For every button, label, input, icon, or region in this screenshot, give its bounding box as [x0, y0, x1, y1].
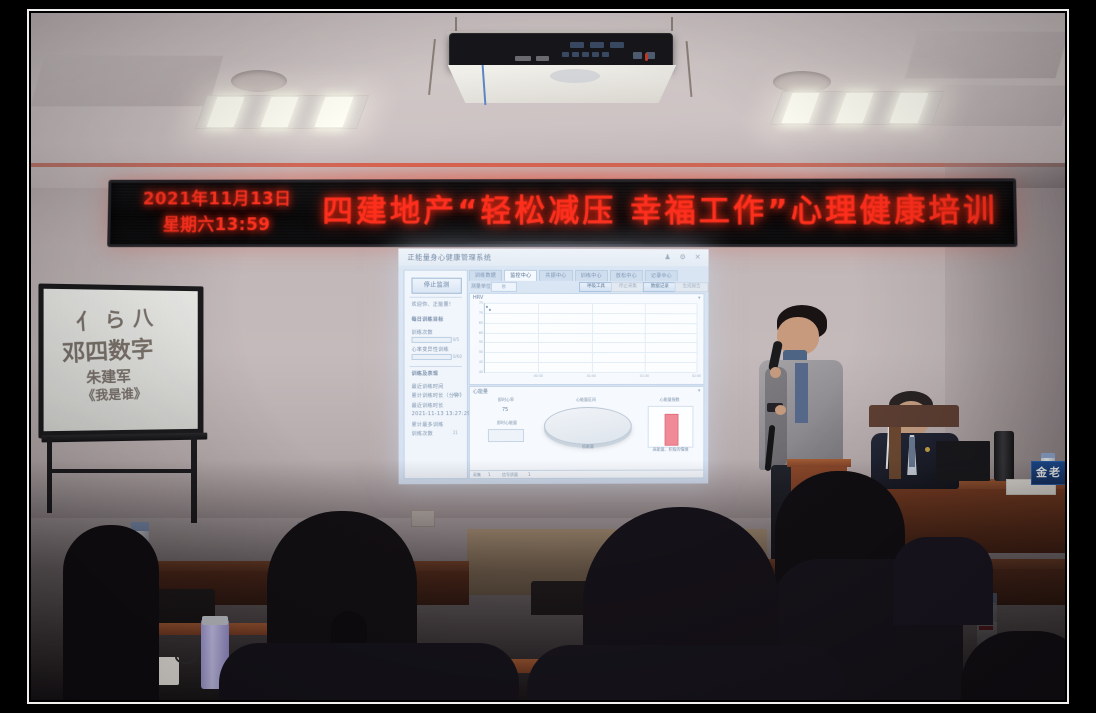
instant-hr-label: 即时心率: [486, 397, 526, 403]
goal-value-1: 0/60: [453, 354, 462, 359]
app-sidebar: 停止监测 欢迎你、正能量! 每日训练目标 训练次数 0/5 心率变异性训练 0/…: [403, 270, 467, 480]
presenter-shirt: [795, 363, 808, 423]
tab-record-center[interactable]: 记录中心: [645, 270, 678, 281]
instant-energy-label: 即时心能量: [484, 420, 530, 426]
app-title-bar: 正能量身心健康管理系统 ♟ ⚙ ✕: [398, 248, 708, 266]
goal-label-1: 心率变异性训练: [412, 346, 449, 353]
unit-select[interactable]: 秒: [491, 282, 517, 292]
gear-icon[interactable]: ⚙: [680, 253, 686, 261]
goal-value-0: 0/5: [453, 337, 459, 342]
app-body: 停止监测 欢迎你、正能量! 每日训练目标 训练次数 0/5 心率变异性训练 0/…: [398, 266, 708, 485]
tab-training-center[interactable]: 训练中心: [575, 270, 608, 281]
record-label-4: 累计最多训练: [412, 421, 444, 428]
presenter-hand-mic: [770, 367, 781, 378]
tab-training-data[interactable]: 训练数据: [469, 270, 502, 281]
projected-application: 正能量身心健康管理系统 ♟ ⚙ ✕ 停止监测 欢迎你、正能量! 每日训练目标: [398, 248, 708, 484]
tab-resonance-center[interactable]: 共振中心: [539, 270, 572, 281]
record-label-3: 2021-11-13 13:27:29: [412, 411, 471, 417]
window-controls: ♟ ⚙ ✕: [664, 253, 700, 261]
record-label-2: 最近训练时长: [412, 402, 444, 409]
audience-shoulders-right-2: [527, 645, 847, 700]
projection-screen: 正能量身心健康管理系统 ♟ ⚙ ✕ 停止监测 欢迎你、正能量! 每日训练目标: [398, 248, 708, 484]
generate-report-button[interactable]: 生成报告: [675, 282, 709, 292]
instant-hr-value: 75: [502, 407, 508, 413]
hrv-ytick-1: 70: [479, 311, 483, 315]
audience-head-left-1: [63, 525, 159, 700]
audience-head-right-4: [893, 537, 993, 625]
hrv-xtick-2: 01:30: [640, 373, 649, 377]
hrv-ytick-7: 40: [479, 370, 483, 374]
energy-index-label: 心能量指数: [642, 397, 698, 403]
audience-shoulders-left: [219, 643, 519, 700]
led-date-line1: 2021年11月13日: [128, 186, 305, 212]
ceiling-vent-left: [231, 70, 287, 92]
thermos-lid: [202, 616, 228, 625]
stop-collect-button[interactable]: 停止采集: [611, 282, 645, 292]
led-date-line2: 星期六13:59: [128, 212, 306, 238]
record-value-1: 42.5: [453, 392, 462, 397]
energy-range-label: 心能量区间: [556, 397, 616, 403]
presenter-hand-right: [775, 405, 786, 415]
app-main-pane: 训练数据 监控中心 共振中心 训练中心 放松中心 记录中心 测量单位 秒 呼吸工…: [469, 268, 705, 479]
energy-index-bar: [665, 414, 679, 446]
led-date: 2021年11月13日 星期六13:59: [128, 186, 306, 238]
whiteboard: 亻 ら 八 邓四数字 朱建军 《我是谁》: [38, 284, 203, 439]
energy-index-category: 高能量、积极的情绪: [642, 447, 700, 453]
photo-frame: 2021年11月13日 星期六13:59 四建地产“轻松减压 幸福工作”心理健康…: [0, 0, 1096, 713]
record-label-5: 训练次数: [412, 430, 433, 437]
hrv-ytick-4: 55: [479, 340, 483, 344]
ceiling-light-left: [195, 95, 369, 129]
ashtray: [175, 650, 197, 664]
tab-monitor-center[interactable]: 监控中心: [504, 270, 537, 281]
chevron-down-icon[interactable]: ▾: [698, 295, 701, 301]
whiteboard-line-2: 邓四数字: [61, 330, 154, 369]
unit-label: 测量单位: [471, 283, 491, 290]
hrv-ytick-0: 75: [479, 301, 483, 305]
led-banner: 2021年11月13日 星期六13:59 四建地产“轻松减压 幸福工作”心理健康…: [107, 178, 1017, 247]
record-value-5: 21: [453, 430, 458, 435]
projector-indicator: [645, 53, 648, 61]
hrv-panel: HRV ▾ 75 70 65 60 55 50 45 40: [469, 293, 705, 385]
toolbar: 测量单位 秒 呼吸工具 停止采集 数据记录 生成报告: [469, 282, 705, 291]
hrv-ytick-6: 45: [479, 360, 483, 364]
goal-label-0: 训练次数: [412, 329, 433, 336]
energy-pie-slice-label: 低能量: [566, 444, 610, 450]
tab-bar: 训练数据 监控中心 共振中心 训练中心 放松中心 记录中心: [469, 270, 678, 280]
breathing-tool-button[interactable]: 呼吸工具: [579, 282, 613, 292]
energy-index-bar-chart: [648, 406, 694, 448]
projector-lens: [550, 69, 600, 83]
guest-lapel-pin: [925, 447, 930, 452]
hrv-xtick-3: 02:00: [692, 373, 701, 377]
led-headline: 四建地产“轻松减压 幸福工作”心理健康培训: [322, 187, 1002, 234]
hrv-ytick-5: 50: [479, 350, 483, 354]
tab-relax-center[interactable]: 放松中心: [610, 270, 643, 281]
hrv-chart: 75 70 65 60 55 50 45 40 00:30 01:00 01:3: [484, 303, 698, 373]
hrv-series-point-0: [486, 306, 488, 308]
hrv-ytick-3: 60: [479, 331, 483, 335]
hrv-xtick-0: 00:30: [534, 374, 543, 378]
ceiling-panel-right-2: [930, 85, 1065, 127]
stop-monitor-button[interactable]: 停止监测: [412, 278, 462, 294]
welcome-text: 欢迎你、正能量!: [412, 301, 452, 308]
whiteboard-surface: 亻 ら 八 邓四数字 朱建军 《我是谁》: [44, 289, 198, 431]
app-title: 正能量身心健康管理系统: [407, 253, 491, 263]
close-icon[interactable]: ✕: [695, 253, 701, 261]
energy-panel-heading: 心能量: [473, 388, 488, 395]
ceiling-panel-right: [904, 31, 1065, 79]
data-record-button[interactable]: 数据记录: [643, 282, 677, 292]
ceiling-panel-left: [31, 55, 224, 107]
energy-meter: [488, 429, 524, 442]
projector-body: [449, 33, 673, 69]
hrv-ytick-2: 65: [479, 321, 483, 325]
hrv-series-point-1: [489, 309, 491, 311]
chevron-down-icon-2[interactable]: ▾: [698, 388, 701, 394]
record-label-0: 最近训练时间: [412, 383, 444, 390]
ceiling-vent-right: [773, 71, 831, 93]
guest-chair: [869, 405, 959, 427]
photograph: 2021年11月13日 星期六13:59 四建地产“轻松减压 幸福工作”心理健康…: [31, 13, 1065, 700]
energy-pie-chart: [544, 407, 632, 445]
user-icon[interactable]: ♟: [664, 253, 670, 261]
whiteboard-line-4: 《我是谁》: [82, 383, 147, 405]
record-heading: 训练及表现: [412, 370, 439, 377]
hrv-xtick-1: 01:00: [587, 373, 596, 377]
ceiling-light-right: [770, 91, 944, 125]
goal-heading: 每日训练目标: [412, 316, 444, 323]
